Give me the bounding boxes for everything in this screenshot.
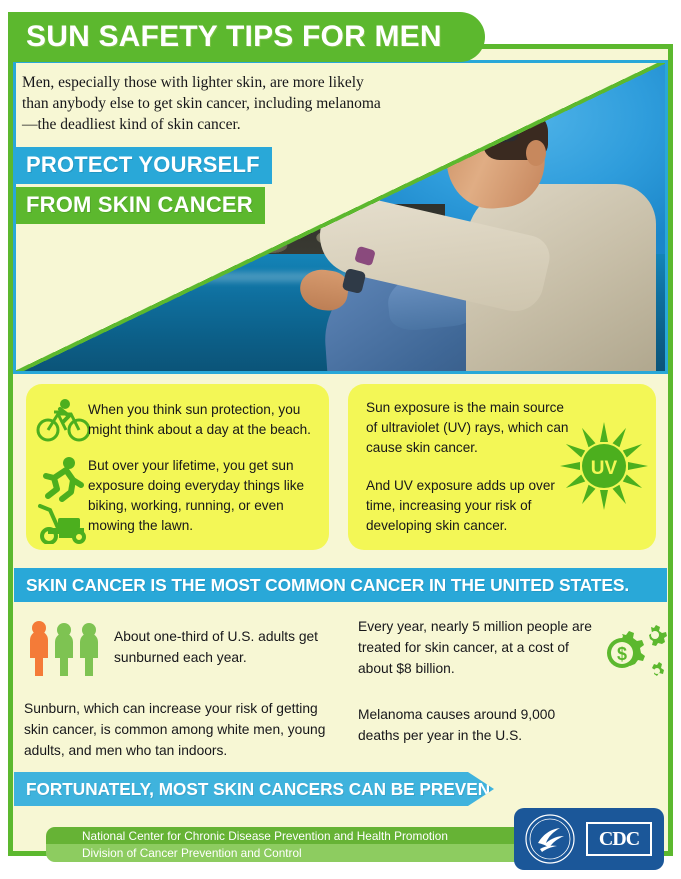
cdc-wordmark: CDC [586,822,652,856]
stat-sunburn-risk: Sunburn, which can increase your risk of… [24,698,344,761]
section-banner-skin-cancer: SKIN CANCER IS THE MOST COMMON CANCER IN… [14,568,667,602]
infographic-poster: SUN SAFETY TIPS FOR MEN Men, especially … [0,0,681,879]
title-banner: SUN SAFETY TIPS FOR MEN [8,12,485,62]
people-icon [26,620,106,676]
uv-sun-icon: UV [560,422,648,510]
card-paragraph: Sun exposure is the main source of ultra… [366,398,578,458]
intro-paragraph: Men, especially those with lighter skin,… [22,72,382,135]
kicker-from-skin-cancer: FROM SKIN CANCER [16,187,265,224]
cdc-logo: CDC [514,808,664,870]
stat-one-third-sunburned: About one-third of U.S. adults get sunbu… [114,626,344,668]
uv-label: UV [591,458,618,479]
footer-line-2: Division of Cancer Prevention and Contro… [82,846,302,860]
tip-cards: When you think sun protection, you might… [26,384,656,550]
footer-line-1: National Center for Chronic Disease Prev… [82,829,448,843]
kicker-protect-yourself: PROTECT YOURSELF [16,147,272,184]
left-card-copy: When you think sun protection, you might… [88,400,316,536]
uv-exposure-card: Sun exposure is the main source of ultra… [348,384,656,550]
section-banner-text: SKIN CANCER IS THE MOST COMMON CANCER IN… [26,575,629,596]
bicycle-icon [36,398,90,444]
statistics-section: $ About one-third of U.S. adults get sun… [14,612,668,762]
runner-icon [40,456,86,502]
stat-five-million-treated: Every year, nearly 5 million people are … [358,616,598,679]
right-card-copy: Sun exposure is the main source of ultra… [366,398,578,536]
money-gears-icon: $ [592,622,668,688]
ear [526,140,546,166]
card-paragraph: When you think sun protection, you might… [88,400,316,440]
hhs-seal-icon [524,813,576,865]
card-paragraph: But over your lifetime, you get sun expo… [88,456,316,536]
card-paragraph: And UV exposure adds up over time, incre… [366,476,578,536]
lawnmower-icon [34,500,90,544]
stat-melanoma-deaths: Melanoma causes around 9,000 deaths per … [358,704,598,746]
everyday-exposure-card: When you think sun protection, you might… [26,384,329,550]
svg-text:$: $ [617,644,627,664]
closing-banner: FORTUNATELY, MOST SKIN CANCERS CAN BE PR… [14,772,494,806]
closing-banner-text: FORTUNATELY, MOST SKIN CANCERS CAN BE PR… [26,779,529,800]
page-title: SUN SAFETY TIPS FOR MEN [26,22,442,52]
